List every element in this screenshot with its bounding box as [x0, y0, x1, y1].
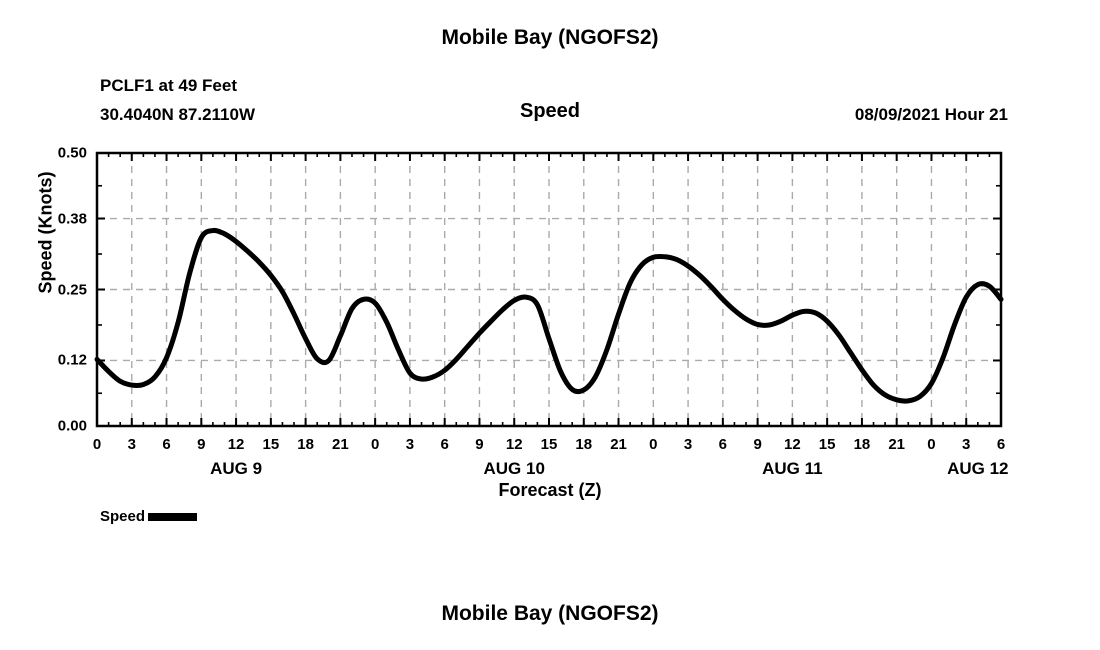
x-axis-day-label: AUG 10 [444, 459, 584, 479]
x-axis-day-label: AUG 12 [908, 459, 1048, 479]
x-axis-day-label: AUG 11 [722, 459, 862, 479]
legend-swatch-speed [148, 513, 197, 521]
x-axis-day-label: AUG 9 [166, 459, 306, 479]
chart-legend: Speed [100, 508, 197, 525]
page-title-bottom: Mobile Bay (NGOFS2) [0, 602, 1100, 626]
x-axis-tick-labels: 036912151821036912151821036912151821036A… [0, 0, 1100, 650]
x-tick-label: 6 [981, 436, 1021, 453]
legend-label-speed: Speed [100, 508, 145, 525]
